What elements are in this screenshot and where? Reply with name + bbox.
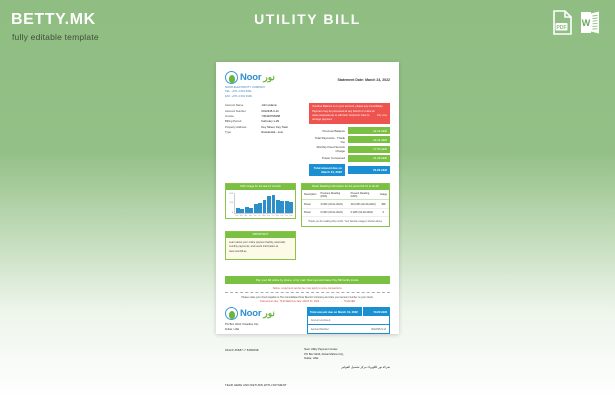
payment-instructions: Please make your check payable to The Co… xyxy=(225,296,390,304)
stub-logo: Noor نور xyxy=(225,307,301,320)
summary-row: Power Consumed 21.29 AED xyxy=(309,155,390,162)
alert-line-with-link: Pay now www.noorpower.ae or call Noor Cu… xyxy=(312,114,387,122)
chart-bar xyxy=(245,207,249,213)
account-label: Type xyxy=(225,130,261,135)
chart-bar xyxy=(263,200,267,213)
x-tick: Jan xyxy=(285,215,289,217)
stub-account-row: Account Number 0012345-6-12 xyxy=(307,325,390,333)
chart-bar xyxy=(249,208,253,213)
summary-value: 42.41 AED xyxy=(348,136,390,143)
summary-label: Total Payments - Thank You xyxy=(309,136,345,144)
x-tick: Apr xyxy=(244,215,248,217)
pdf-file-icon[interactable]: PDF xyxy=(552,10,573,35)
summary-row: Monthly Fixed Service Charge 17.50 AED xyxy=(309,145,390,153)
summary-row: Total Payments - Thank You 42.41 AED xyxy=(309,136,390,144)
payment-due-line: Total amount due: 79.29 AED Due date: Ma… xyxy=(225,300,390,304)
promo-banner: Pay your bill online by phone, or by mai… xyxy=(225,276,390,284)
table-row: Power 3 kWh (02-01-2022) 401 kWh (02-29-… xyxy=(302,200,389,208)
leaf-logo-icon xyxy=(225,71,238,84)
alert-line: Overdue Balance is on your account, plea… xyxy=(312,105,387,109)
y-tick: 250 xyxy=(230,202,233,204)
y-tick: 500 xyxy=(230,193,233,195)
y-tick: 0 xyxy=(232,212,233,214)
column-header: Usage xyxy=(378,190,389,200)
chart-x-axis: FebMarAprMayJunJulAugSepOctNovDecJanFeb xyxy=(228,215,293,217)
promo-subtitle: fully editable template xyxy=(12,32,99,42)
mailing-address: Noor Utility Payment Center PO Box 9244,… xyxy=(304,348,390,371)
total-due-row: Total amount due on March 31, 2022 79.29… xyxy=(309,164,390,176)
x-tick: Sep xyxy=(267,215,271,217)
meter-reading-table: Description Previous Reading (kWh) Prese… xyxy=(302,190,389,217)
tear-here-note: TEAR HERE AND RETURN WITH PAYMENT xyxy=(225,383,390,387)
x-tick: Dec xyxy=(280,215,284,217)
summary-value: 42.41 AED xyxy=(348,127,390,134)
chart-bar xyxy=(276,200,280,213)
meter-table-note: Thank you for reading this month. Your f… xyxy=(302,217,389,226)
stub-account-value: 0012345-6-12 xyxy=(371,328,386,331)
alert-line: www.noorpower.ae or call Noor Customer C… xyxy=(312,114,369,121)
tear-off-divider xyxy=(225,292,390,293)
note-body: Learn about your online payment facility… xyxy=(226,238,295,259)
summary-row: Previous Balance 42.41 AED xyxy=(309,127,390,134)
summary-value: 17.50 AED xyxy=(348,146,390,153)
cell-previous: 3 kWh (02-01-2022) xyxy=(318,200,348,208)
stub-total-label: Total amount due on March 31, 2022 xyxy=(307,307,362,316)
column-header: Present Reading (kWh) xyxy=(349,190,378,200)
cell-usage: 398 xyxy=(378,200,389,208)
summary-label: Monthly Fixed Service Charge xyxy=(309,145,345,153)
leaf-logo-icon xyxy=(225,307,238,320)
account-row: Type Residential - Low xyxy=(225,130,304,135)
logo-name: Noor xyxy=(240,72,261,83)
x-tick: Feb xyxy=(289,215,293,217)
amount-enclosed-input[interactable]: Amount enclosed xyxy=(307,316,390,325)
cell-previous: 0 kWh (02-01-2022) xyxy=(318,208,348,216)
meter-reading-panel: Meter Reading Information for the period… xyxy=(301,183,390,227)
chart-bar xyxy=(254,204,258,212)
stub-address: PO Box 9244, Paradise City Dubai, UAE xyxy=(225,323,301,333)
summary-label: Power Consumed xyxy=(309,156,345,160)
x-tick: May xyxy=(249,215,253,217)
cell-present: 0 kWh (02-29-2022) xyxy=(349,208,378,216)
word-file-icon[interactable]: W xyxy=(580,10,601,35)
chart-bar xyxy=(267,196,271,213)
document-header: Noor نور Statement Date: March 24, 2022 xyxy=(225,71,390,84)
x-tick: Mar xyxy=(240,215,244,217)
x-tick: Jun xyxy=(253,215,257,217)
account-code: 00123 45687-7 5480098 xyxy=(225,348,259,371)
chart-bar xyxy=(289,202,293,213)
x-tick: Feb xyxy=(235,215,239,217)
chart-bar xyxy=(236,208,240,213)
column-header: Previous Reading (kWh) xyxy=(318,190,348,200)
column-header: Description xyxy=(302,190,319,200)
chart-plot-area xyxy=(234,193,293,214)
cell-usage: 0 xyxy=(378,208,389,216)
important-note-panel: IMPORTANT Learn about your online paymen… xyxy=(225,231,296,260)
x-tick: Nov xyxy=(276,215,280,217)
chart-bar xyxy=(280,201,284,213)
x-tick: Jul xyxy=(258,215,262,217)
bill-document: Noor نور Statement Date: March 24, 2022 … xyxy=(216,62,399,334)
logo-arabic: نور xyxy=(263,308,275,319)
logo-arabic: نور xyxy=(263,72,275,83)
chart-bar xyxy=(240,209,244,213)
x-tick: Aug xyxy=(262,215,266,217)
stub-address-line: Dubai, UAE xyxy=(225,328,301,333)
summary-label: Previous Balance xyxy=(309,129,345,133)
format-icons: PDF W xyxy=(552,10,601,35)
arabic-address-line: شركة نور للكهرباء مركز تحصيل الفواتير xyxy=(304,365,390,370)
total-label: Total amount due on March 31, 2022 xyxy=(309,164,345,176)
pay-now-link[interactable]: Pay now xyxy=(377,114,387,118)
cell-present: 401 kWh (02-29-2022) xyxy=(349,200,378,208)
svg-text:PDF: PDF xyxy=(556,25,566,31)
chart-bar xyxy=(272,195,276,213)
logo-name: Noor xyxy=(240,308,261,319)
promo-banner-subtext: Notice: a payment service fee may apply … xyxy=(225,287,390,290)
svg-text:W: W xyxy=(582,18,591,28)
chart-bar xyxy=(258,203,262,213)
stub-total-value: 79.29 AED xyxy=(362,307,390,316)
payment-stub: Noor نور PO Box 9244, Paradise City Duba… xyxy=(225,307,390,333)
account-details: Account Name John Adams Account Number 0… xyxy=(225,103,304,177)
stub-account-label: Account Number xyxy=(311,328,329,331)
page-title: UTILITY BILL xyxy=(0,11,615,27)
cell-description: Power xyxy=(302,200,319,208)
mail-line: Dubai, UAE xyxy=(304,357,390,362)
table-header-row: Description Previous Reading (kWh) Prese… xyxy=(302,190,389,200)
company-line: FAX: +971 4 601 9100 xyxy=(225,95,390,99)
x-tick: Oct xyxy=(271,215,275,217)
mailing-block: 00123 45687-7 5480098 Noor Utility Payme… xyxy=(225,348,390,371)
usage-chart-panel: kWh Usage for the last 13 months 500 250… xyxy=(225,183,296,219)
table-row: Power 0 kWh (02-01-2022) 0 kWh (02-29-20… xyxy=(302,208,389,216)
stub-total-row: Total amount due on March 31, 2022 79.29… xyxy=(307,307,390,316)
company-logo: Noor نور xyxy=(225,71,275,84)
chart-bar xyxy=(285,201,289,213)
overdue-alert: Overdue Balance is on your account, plea… xyxy=(309,103,390,124)
statement-date: Statement Date: March 24, 2022 xyxy=(337,71,390,82)
cell-description: Power xyxy=(302,208,319,216)
account-value: Residential - Low xyxy=(261,130,304,135)
summary-value: 21.29 AED xyxy=(348,155,390,162)
company-contact-lines: NOOR ELECTRICITY COMPANY TEL: +971 4 601… xyxy=(225,86,390,99)
total-value: 79.29 AED xyxy=(348,166,390,174)
